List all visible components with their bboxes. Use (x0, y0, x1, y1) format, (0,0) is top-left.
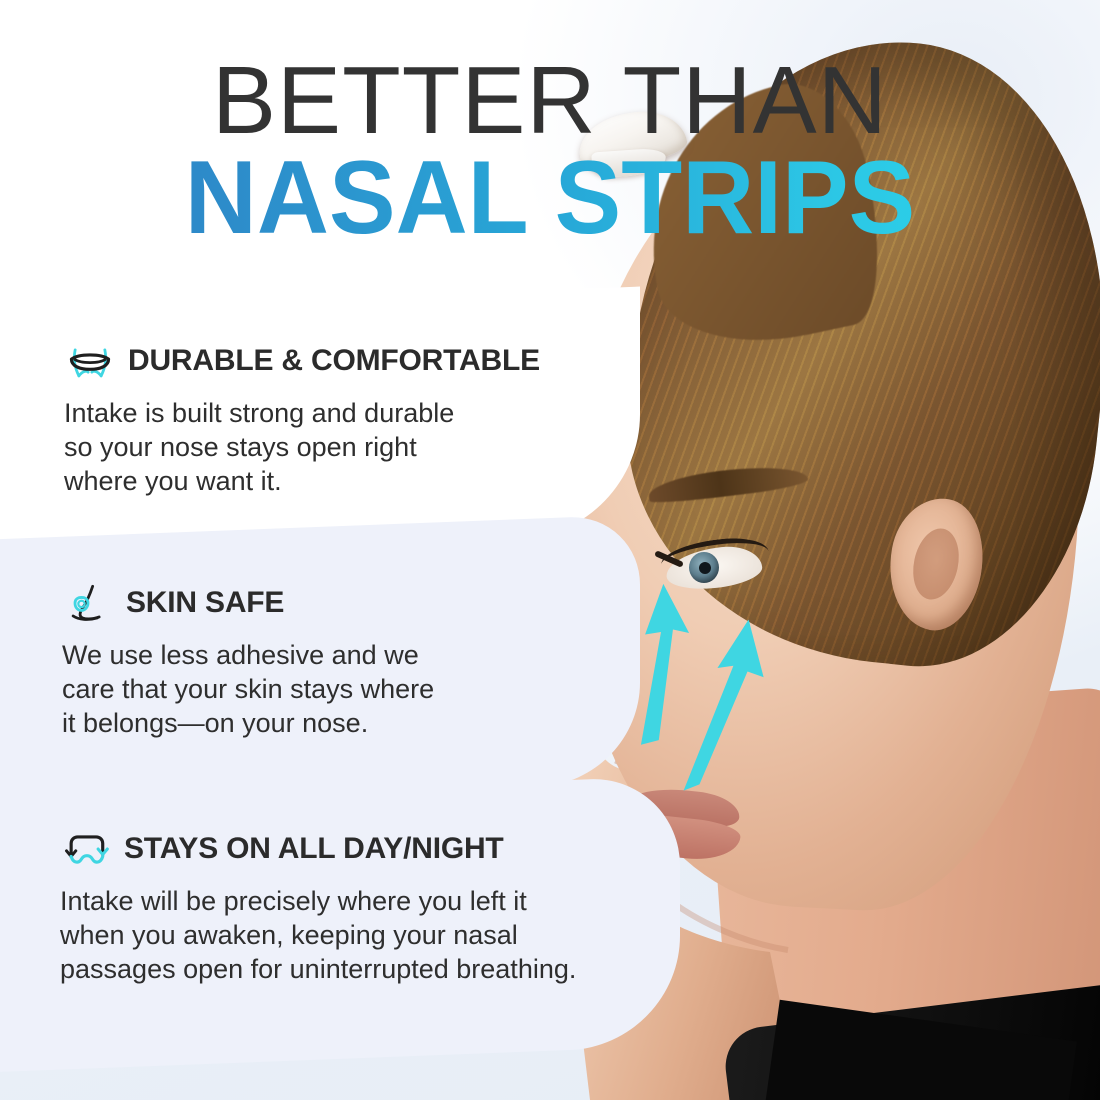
nasal-device-icon (64, 340, 116, 382)
ad-creative: BETTER THAN NASAL STRIPS DURABLE & COMFO… (0, 0, 1100, 1100)
airflow-arrow-3 (681, 619, 766, 790)
feature-2-heading-row: SKIN SAFE (62, 582, 582, 624)
feature-durable-comfortable: DURABLE & COMFORTABLE Intake is built st… (64, 340, 624, 498)
feature-1-title: DURABLE & COMFORTABLE (128, 344, 540, 378)
day-night-cycle-icon (60, 828, 112, 870)
feature-3-body: Intake will be precisely where you left … (60, 884, 700, 986)
feature-2-body: We use less adhesive and we care that yo… (62, 638, 582, 740)
feature-3-heading-row: STAYS ON ALL DAY/NIGHT (60, 828, 700, 870)
feature-skin-safe: SKIN SAFE We use less adhesive and we ca… (62, 582, 582, 740)
feature-stays-on-all-day-night: STAYS ON ALL DAY/NIGHT Intake will be pr… (60, 828, 700, 986)
feature-3-title: STAYS ON ALL DAY/NIGHT (124, 832, 504, 866)
feature-1-heading-row: DURABLE & COMFORTABLE (64, 340, 624, 382)
nose-profile-shield-icon (62, 582, 114, 624)
airflow-arrow-2 (635, 583, 693, 745)
feature-2-title: SKIN SAFE (126, 586, 284, 620)
feature-1-body: Intake is built strong and durable so yo… (64, 396, 624, 498)
